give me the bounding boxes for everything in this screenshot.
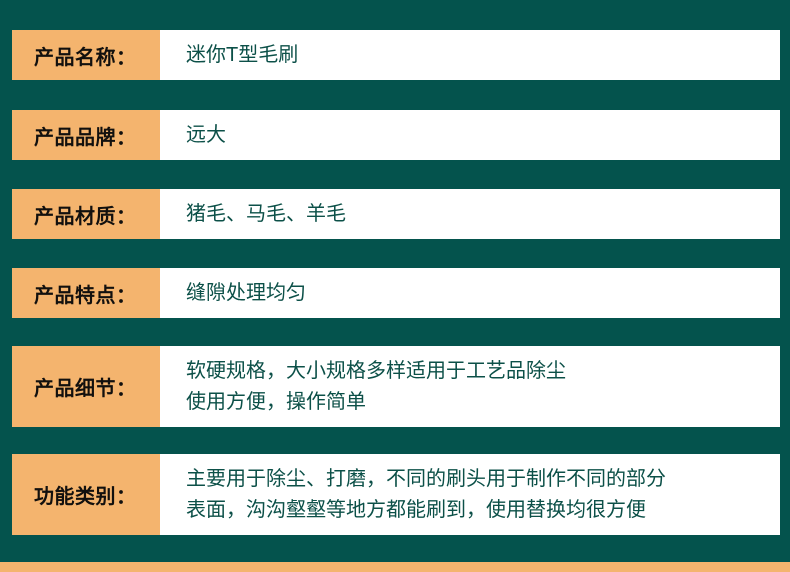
spec-row-feature: 产品特点： 缝隙处理均匀	[12, 268, 780, 318]
spec-label-name: 产品名称：	[12, 30, 160, 80]
spec-row-detail: 产品细节： 软硬规格，大小规格多样适用于工艺品除尘 使用方便，操作简单	[12, 346, 780, 427]
spec-row-name: 产品名称： 迷你T型毛刷	[12, 30, 780, 80]
spec-value-line: 主要用于除尘、打磨，不同的刷头用于制作不同的部分	[186, 464, 766, 495]
spec-value-feature: 缝隙处理均匀	[160, 268, 780, 318]
spec-value-detail: 软硬规格，大小规格多样适用于工艺品除尘 使用方便，操作简单	[160, 346, 780, 427]
spec-row-brand: 产品品牌： 远大	[12, 110, 780, 160]
spec-label-detail: 产品细节：	[12, 346, 160, 427]
spec-value-line: 使用方便，操作简单	[186, 387, 766, 418]
spec-value-name: 迷你T型毛刷	[160, 30, 780, 80]
spec-label-brand: 产品品牌：	[12, 110, 160, 160]
bottom-accent-bar	[0, 562, 790, 572]
spec-label-feature: 产品特点：	[12, 268, 160, 318]
spec-label-material: 产品材质：	[12, 189, 160, 239]
spec-value-function: 主要用于除尘、打磨，不同的刷头用于制作不同的部分 表面，沟沟壑壑等地方都能刷到，…	[160, 454, 780, 535]
spec-value-line: 猪毛、马毛、羊毛	[186, 199, 766, 230]
spec-value-line: 迷你T型毛刷	[186, 40, 766, 71]
spec-row-material: 产品材质： 猪毛、马毛、羊毛	[12, 189, 780, 239]
spec-value-material: 猪毛、马毛、羊毛	[160, 189, 780, 239]
spec-value-line: 软硬规格，大小规格多样适用于工艺品除尘	[186, 356, 766, 387]
product-spec-sheet: 产品名称： 迷你T型毛刷 产品品牌： 远大 产品材质： 猪毛、马毛、羊毛 产品特…	[0, 0, 790, 572]
spec-value-line: 远大	[186, 120, 766, 151]
spec-label-function: 功能类别：	[12, 454, 160, 535]
spec-value-brand: 远大	[160, 110, 780, 160]
spec-row-function: 功能类别： 主要用于除尘、打磨，不同的刷头用于制作不同的部分 表面，沟沟壑壑等地…	[12, 454, 780, 535]
spec-value-line: 表面，沟沟壑壑等地方都能刷到，使用替换均很方便	[186, 495, 766, 526]
spec-value-line: 缝隙处理均匀	[186, 278, 766, 309]
